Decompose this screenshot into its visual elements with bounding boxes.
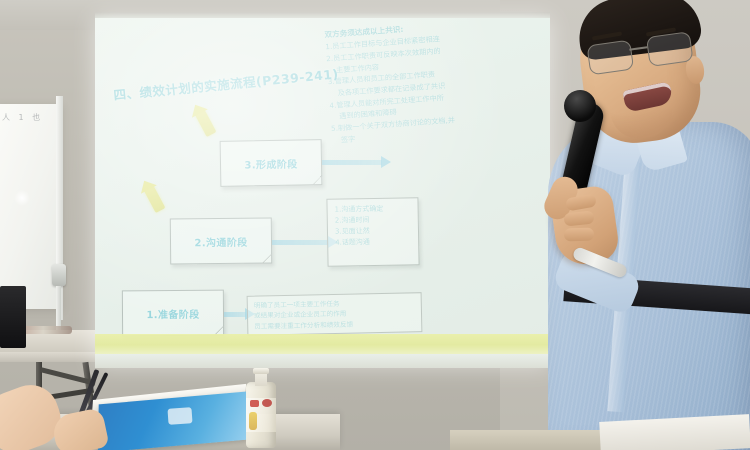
glasses-bridge	[629, 46, 647, 50]
bottle-label-red-circle	[262, 399, 272, 407]
flow-step-1: 1.准备阶段	[122, 290, 224, 337]
bottom-note-line-3: 员工需要注重工作分析和绩效反馈	[254, 318, 416, 332]
dogear-corner-icon	[312, 175, 322, 185]
presenter	[520, 0, 750, 450]
book-white-patch	[167, 407, 192, 425]
slide-title: 四、绩效计划的实施流程(P239-241)	[113, 63, 340, 104]
monitor	[0, 286, 26, 348]
screen-footer-edge	[95, 354, 550, 368]
water-bottle	[246, 368, 276, 448]
communication-item-4: 4.话题沟通	[335, 236, 418, 248]
flow-step-2-label: 2.沟通阶段	[194, 233, 247, 249]
presentation-photo-scene: 人 1 也 四、绩效计划的实施流程(P239-241) 双方务须达成以上共识: …	[0, 0, 750, 450]
up-arrow-icon-upper	[195, 109, 217, 137]
flipchart-board: 人 1 也	[0, 104, 60, 309]
slide-bottom-band	[95, 334, 550, 354]
flipchart-scribble: 人 1 也	[2, 112, 43, 123]
flow-step-1-label: 1.准备阶段	[146, 305, 199, 320]
flow-step-2: 2.沟通阶段	[170, 217, 272, 264]
bottle-label-red-block	[250, 400, 259, 407]
communication-list-box: 1.沟通方式确定 2.沟通时间 3.见面让然 4.话题沟通	[326, 197, 419, 267]
dogear-corner-icon	[262, 253, 272, 263]
right-arrow-icon-step3	[322, 160, 382, 165]
up-arrow-icon-lower	[144, 185, 166, 213]
presenter-finger-3	[564, 227, 594, 241]
flow-step-3: 3.形成阶段	[220, 139, 323, 187]
bottom-note-box: 明确了员工一项主要工作任务 或结果对企业或企业员工的作用 员工需要注重工作分析和…	[247, 292, 423, 336]
consensus-text-block: 双方务须达成以上共识: 1.员工工作目标与企业目标紧密相连 2.员工工作职责可反…	[324, 15, 537, 146]
flipchart-knob	[52, 264, 66, 286]
glasses-lens-right	[646, 31, 694, 67]
right-arrow-icon-step1	[224, 312, 246, 317]
bottle-cap	[253, 368, 269, 374]
slide-content: 四、绩效计划的实施流程(P239-241) 双方务须达成以上共识: 1.员工工作…	[95, 18, 550, 366]
projection-screen: 四、绩效计划的实施流程(P239-241) 双方务须达成以上共识: 1.员工工作…	[95, 18, 550, 366]
bottle-label-yellow-stripe	[249, 412, 257, 430]
glasses-lens-left	[586, 40, 634, 76]
right-arrow-icon-step2	[272, 240, 329, 245]
flow-step-3-label: 3.形成阶段	[244, 155, 297, 171]
